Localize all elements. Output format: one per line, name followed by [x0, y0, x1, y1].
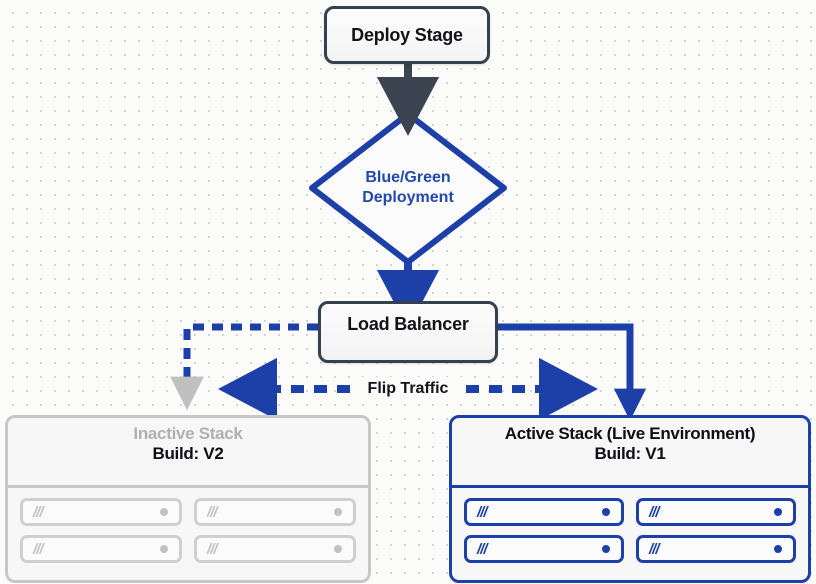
server-status-dot-icon: [774, 545, 782, 553]
server-slashes-icon: ///: [207, 541, 217, 558]
server-status-dot-icon: [334, 545, 342, 553]
active-stack-build: Build: V1: [595, 444, 666, 464]
edge-loadbalancer-to-active: [498, 327, 630, 404]
inactive-server-grid: /// /// /// ///: [8, 488, 368, 573]
server-node[interactable]: ///: [20, 498, 182, 526]
diagram-canvas: Deploy Stage Blue/Green Deployment Load …: [0, 0, 816, 584]
server-node[interactable]: ///: [464, 535, 624, 563]
server-slashes-icon: ///: [33, 504, 43, 521]
server-status-dot-icon: [602, 508, 610, 516]
server-node[interactable]: ///: [20, 535, 182, 563]
blue-green-label-group: Blue/Green Deployment: [310, 112, 506, 264]
flip-traffic-label: Flip Traffic: [352, 377, 464, 401]
edge-loadbalancer-to-inactive: [187, 327, 318, 392]
blue-green-label-line2: Deployment: [362, 188, 454, 208]
active-server-grid: /// /// /// ///: [452, 488, 808, 573]
server-status-dot-icon: [160, 508, 168, 516]
inactive-stack-build: Build: V2: [153, 444, 224, 464]
deploy-stage-label: Deploy Stage: [351, 25, 463, 46]
server-slashes-icon: ///: [207, 504, 217, 521]
active-stack-container[interactable]: Active Stack (Live Environment) Build: V…: [449, 415, 811, 583]
active-stack-header: Active Stack (Live Environment) Build: V…: [452, 418, 808, 488]
node-blue-green-deployment[interactable]: Blue/Green Deployment: [310, 112, 506, 264]
server-slashes-icon: ///: [649, 504, 659, 521]
node-load-balancer[interactable]: Load Balancer: [318, 301, 498, 363]
server-slashes-icon: ///: [477, 541, 487, 558]
server-slashes-icon: ///: [649, 541, 659, 558]
server-status-dot-icon: [334, 508, 342, 516]
active-stack-title: Active Stack (Live Environment): [505, 424, 756, 444]
inactive-stack-title: Inactive Stack: [133, 424, 242, 444]
server-node[interactable]: ///: [464, 498, 624, 526]
server-node[interactable]: ///: [636, 498, 796, 526]
server-status-dot-icon: [160, 545, 168, 553]
server-status-dot-icon: [602, 545, 610, 553]
server-node[interactable]: ///: [194, 498, 356, 526]
node-deploy-stage[interactable]: Deploy Stage: [324, 6, 490, 64]
server-node[interactable]: ///: [194, 535, 356, 563]
server-slashes-icon: ///: [477, 504, 487, 521]
server-slashes-icon: ///: [33, 541, 43, 558]
inactive-stack-container[interactable]: Inactive Stack Build: V2 /// /// /// ///: [5, 415, 371, 583]
server-node[interactable]: ///: [636, 535, 796, 563]
server-status-dot-icon: [774, 508, 782, 516]
inactive-stack-header: Inactive Stack Build: V2: [8, 418, 368, 488]
blue-green-label-line1: Blue/Green: [365, 168, 450, 188]
load-balancer-label: Load Balancer: [347, 314, 468, 335]
